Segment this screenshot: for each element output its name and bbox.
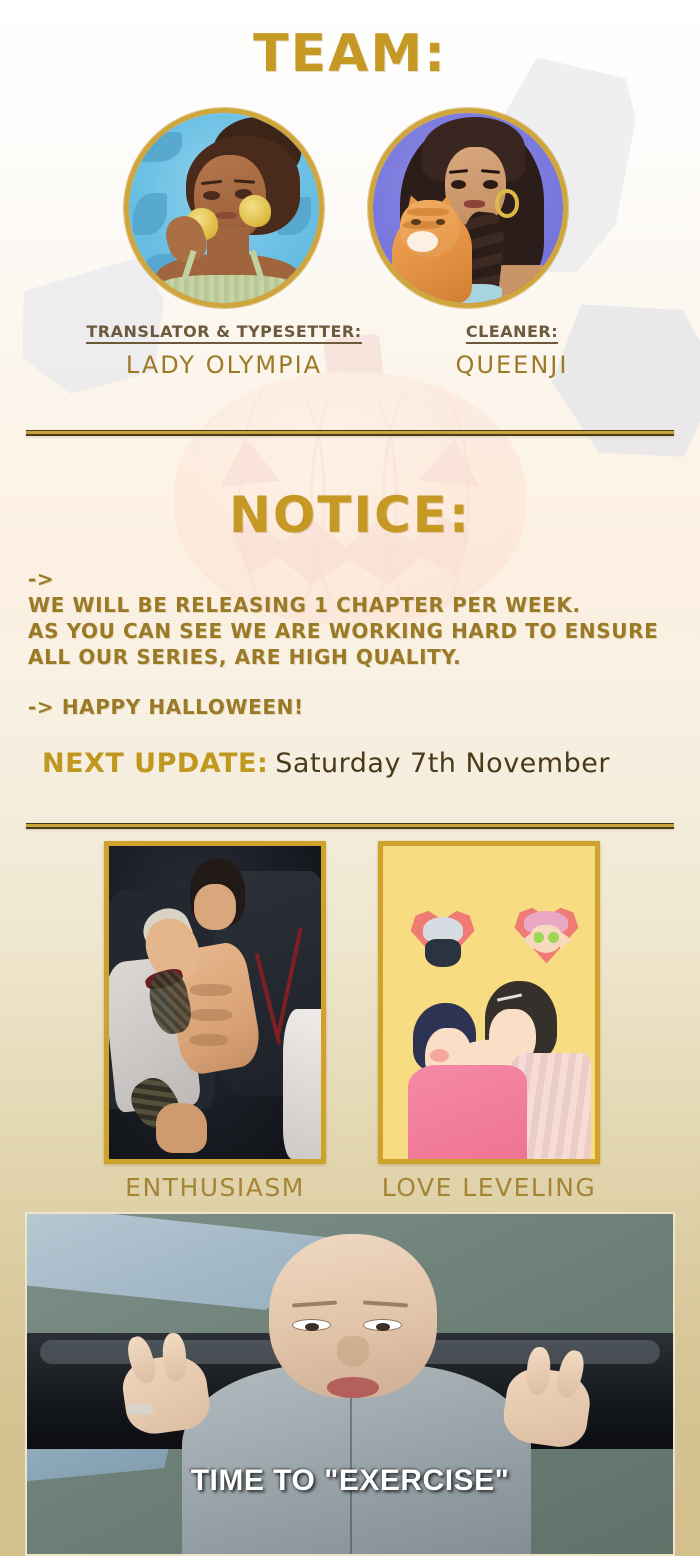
section-divider [26, 430, 674, 436]
next-update-date: Saturday 7th November [275, 748, 610, 779]
thumb-love-leveling[interactable] [378, 841, 600, 1164]
page-title: TEAM: [0, 24, 700, 84]
next-update: NEXT UPDATE:Saturday 7th November [42, 748, 610, 779]
series-showcase: ENTHUSIASM [0, 841, 700, 1171]
ghost-shape-icon [537, 281, 700, 479]
notice-title: NOTICE: [0, 486, 700, 544]
section-divider [26, 823, 674, 829]
series-card[interactable]: LOVE LEVELING [378, 841, 600, 1202]
role-title-colon: : [551, 322, 558, 344]
notice-item: -> HAPPY HALLOWEEN! [28, 694, 668, 720]
role-cleaner: CLEANER: QUEENJI [372, 322, 652, 379]
heart-icon [411, 909, 475, 967]
notice-body: -> WE WILL BE RELEASING 1 CHAPTER PER WE… [28, 566, 668, 720]
meme-image: TIME TO "EXERCISE" [25, 1212, 675, 1556]
series-title: LOVE LEVELING [378, 1173, 600, 1202]
series-title: ENTHUSIASM [104, 1173, 326, 1202]
arrow-icon: -> [28, 695, 54, 719]
heart-icon [514, 905, 578, 963]
team-avatars [0, 108, 700, 308]
credits-page: TEAM: [0, 0, 700, 1556]
next-update-label: NEXT UPDATE: [42, 748, 268, 779]
notice-line: WE WILL BE RELEASING 1 CHAPTER PER WEEK. [28, 593, 581, 617]
avatar-queenji [368, 108, 568, 308]
notice-line: ALL OUR SERIES, ARE HIGH QUALITY. [28, 645, 461, 669]
role-title-label: TRANSLATOR & TYPESETTER [86, 322, 354, 344]
role-member-name: QUEENJI [372, 351, 652, 379]
series-card[interactable]: ENTHUSIASM [104, 841, 326, 1202]
notice-item-lines: WE WILL BE RELEASING 1 CHAPTER PER WEEK.… [28, 592, 658, 670]
notice-line: HAPPY HALLOWEEN! [62, 695, 304, 719]
notice-item: -> WE WILL BE RELEASING 1 CHAPTER PER WE… [28, 566, 668, 670]
avatar-lady-olympia [124, 108, 324, 308]
meme-caption: TIME TO "EXERCISE" [27, 1464, 673, 1498]
role-title-colon: : [355, 322, 362, 344]
thumb-enthusiasm[interactable] [104, 841, 326, 1164]
role-translator: TRANSLATOR & TYPESETTER: LADY OLYMPIA [52, 322, 396, 379]
arrow-icon: -> [28, 567, 54, 591]
notice-line: AS YOU CAN SEE WE ARE WORKING HARD TO EN… [28, 619, 658, 643]
notice-item-lines: HAPPY HALLOWEEN! [62, 694, 304, 720]
role-title-label: CLEANER [466, 322, 551, 344]
role-member-name: LADY OLYMPIA [52, 351, 396, 379]
